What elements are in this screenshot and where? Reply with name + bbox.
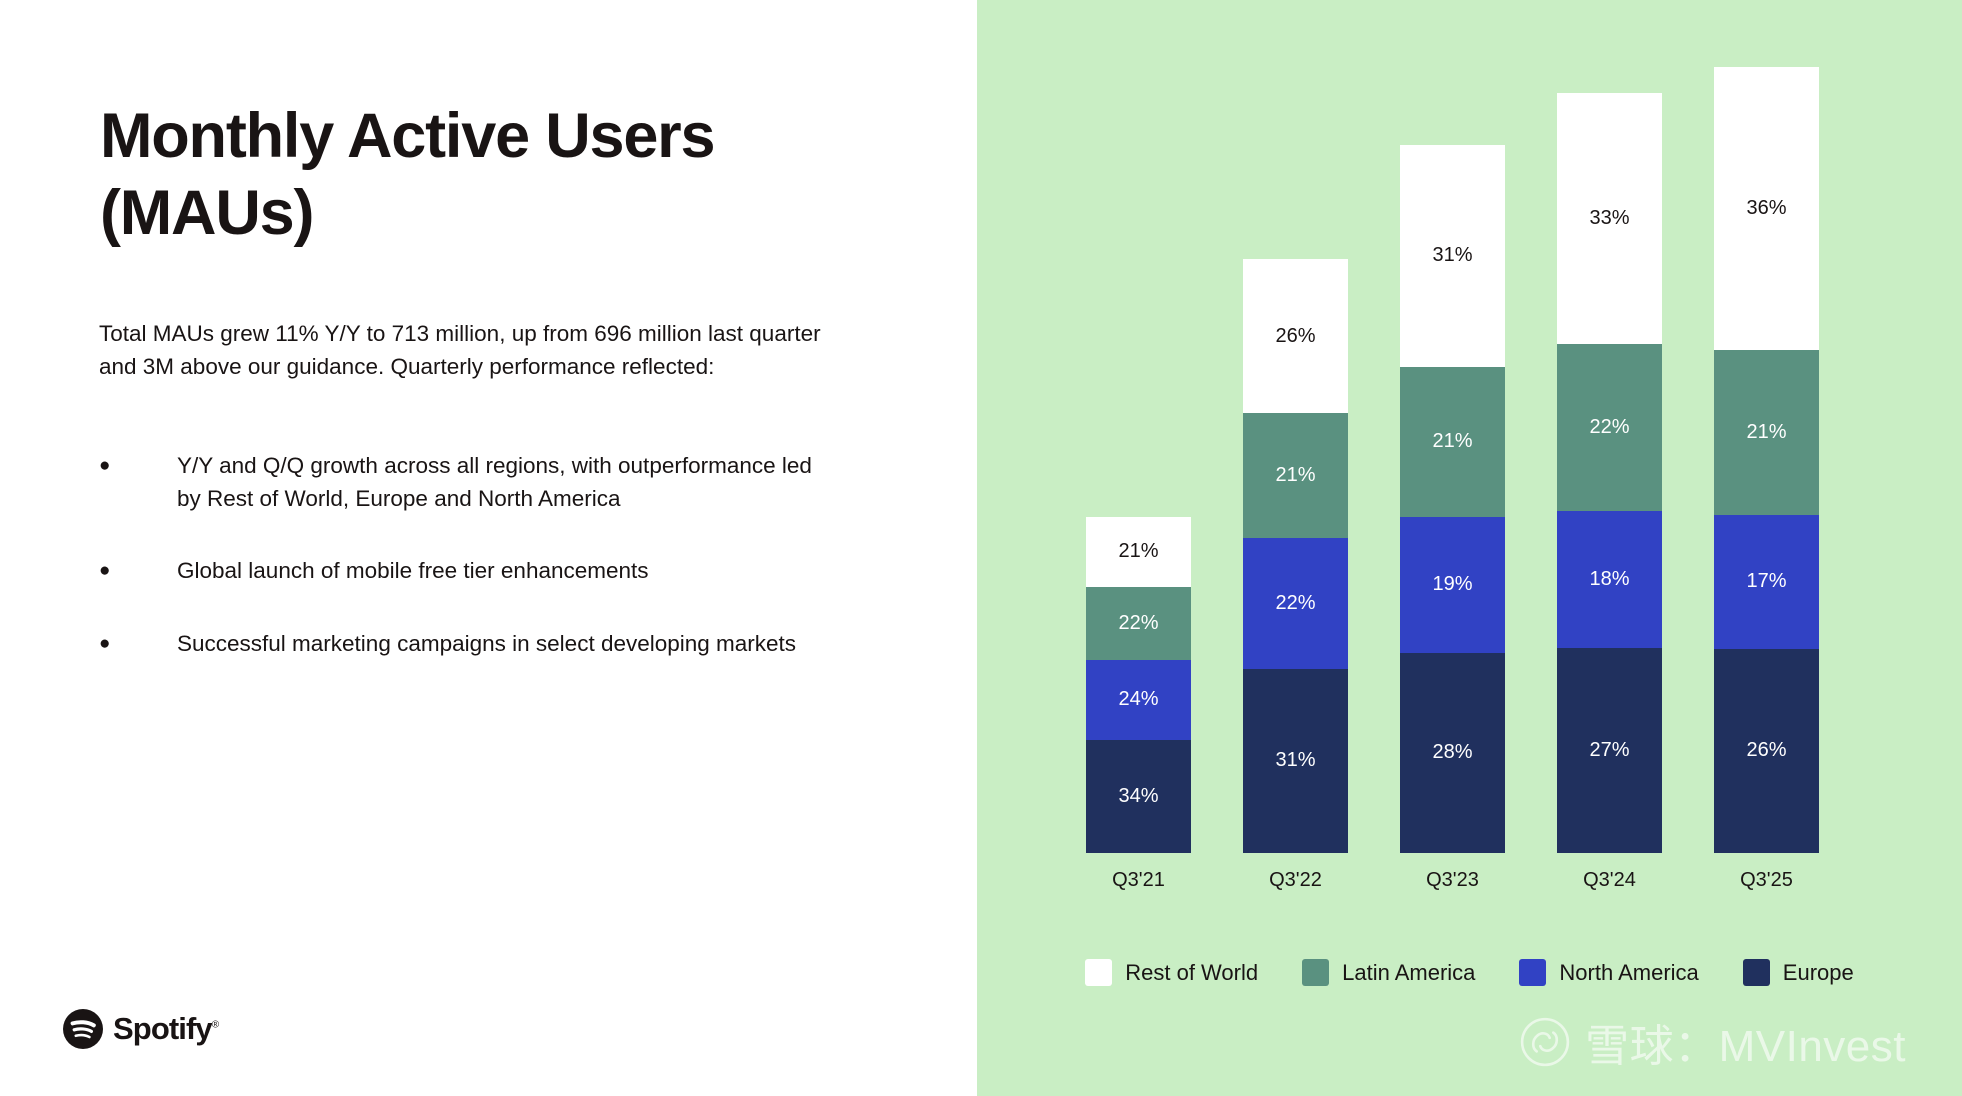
- legend-item-north-america[interactable]: North America: [1519, 959, 1698, 986]
- bar-segment-europe[interactable]: 28%: [1400, 653, 1505, 853]
- bar-segment-europe[interactable]: 34%: [1086, 740, 1191, 853]
- chart-legend: Rest of World Latin America North Americ…: [977, 959, 1962, 986]
- bar-segment-label: 34%: [1118, 785, 1158, 808]
- xueqiu-logo-icon: [1519, 1016, 1571, 1068]
- list-item-label: Global launch of mobile free tier enhanc…: [177, 555, 827, 588]
- bar-segment-label: 28%: [1432, 741, 1472, 764]
- bar-group-q324[interactable]: 33% 22% 18% 27%: [1557, 93, 1662, 853]
- bar-segment-rest-of-world[interactable]: 31%: [1400, 145, 1505, 367]
- bar-segment-label: 31%: [1275, 749, 1315, 772]
- bar-segment-label: 31%: [1432, 244, 1472, 267]
- bar-segment-latin-america[interactable]: 21%: [1714, 350, 1819, 515]
- bar-segment-label: 17%: [1746, 570, 1786, 593]
- bar-segment-label: 27%: [1589, 739, 1629, 762]
- legend-swatch-icon: [1743, 959, 1770, 986]
- bar-segment-label: 26%: [1275, 325, 1315, 348]
- x-axis-label-q322: Q3'22: [1243, 869, 1348, 892]
- list-item-label: Y/Y and Q/Q growth across all regions, w…: [177, 450, 827, 515]
- bar-segment-label: 22%: [1275, 592, 1315, 615]
- chart-panel: 21% 22% 24% 34% Q3'21 26% 21%: [977, 0, 1962, 1096]
- bar-segment-label: 33%: [1589, 207, 1629, 230]
- bar-segment-label: 19%: [1432, 573, 1472, 596]
- bullet-marker-icon: ●: [99, 450, 177, 515]
- bar-segment-label: 21%: [1432, 430, 1472, 453]
- slide-root: Monthly Active Users (MAUs) Total MAUs g…: [0, 0, 1962, 1096]
- bar-segment-europe[interactable]: 26%: [1714, 649, 1819, 853]
- page-title: Monthly Active Users (MAUs): [100, 98, 800, 253]
- bar-segment-europe[interactable]: 27%: [1557, 648, 1662, 853]
- bar-segment-label: 21%: [1118, 540, 1158, 563]
- legend-item-label: Europe: [1783, 960, 1854, 986]
- legend-item-label: Rest of World: [1125, 960, 1258, 986]
- list-item: ● Global launch of mobile free tier enha…: [99, 555, 859, 588]
- bar-segment-north-america[interactable]: 17%: [1714, 515, 1819, 649]
- bar-segment-north-america[interactable]: 22%: [1243, 538, 1348, 669]
- bar-segment-rest-of-world[interactable]: 21%: [1086, 517, 1191, 587]
- stacked-bar-chart: 21% 22% 24% 34% Q3'21 26% 21%: [977, 0, 1962, 1096]
- bar-segment-latin-america[interactable]: 21%: [1243, 413, 1348, 538]
- bar-segment-rest-of-world[interactable]: 26%: [1243, 259, 1348, 413]
- bar-segment-rest-of-world[interactable]: 33%: [1557, 93, 1662, 344]
- lead-paragraph: Total MAUs grew 11% Y/Y to 713 million, …: [99, 318, 839, 383]
- bar-segment-label: 21%: [1275, 464, 1315, 487]
- spotify-wordmark-text: Spotify: [113, 1011, 212, 1046]
- legend-item-latin-america[interactable]: Latin America: [1302, 959, 1475, 986]
- bar-segment-label: 22%: [1118, 612, 1158, 635]
- legend-item-label: North America: [1559, 960, 1698, 986]
- bar-group-q323[interactable]: 31% 21% 19% 28%: [1400, 145, 1505, 853]
- bar-segment-rest-of-world[interactable]: 36%: [1714, 67, 1819, 350]
- bar-segment-europe[interactable]: 31%: [1243, 669, 1348, 853]
- list-item-label: Successful marketing campaigns in select…: [177, 628, 827, 661]
- bar-segment-label: 26%: [1746, 739, 1786, 762]
- legend-swatch-icon: [1302, 959, 1329, 986]
- bar-segment-label: 22%: [1589, 416, 1629, 439]
- watermark-label: 雪球：MVInvest: [1585, 1010, 1906, 1074]
- bullet-marker-icon: ●: [99, 628, 177, 661]
- legend-item-rest-of-world[interactable]: Rest of World: [1085, 959, 1258, 986]
- bar-group-q322[interactable]: 26% 21% 22% 31%: [1243, 259, 1348, 853]
- bar-segment-latin-america[interactable]: 21%: [1400, 367, 1505, 517]
- legend-item-label: Latin America: [1342, 960, 1475, 986]
- bar-segment-north-america[interactable]: 24%: [1086, 660, 1191, 740]
- bar-segment-label: 18%: [1589, 568, 1629, 591]
- bar-segment-latin-america[interactable]: 22%: [1086, 587, 1191, 660]
- bullet-marker-icon: ●: [99, 555, 177, 588]
- bar-segment-latin-america[interactable]: 22%: [1557, 344, 1662, 511]
- list-item: ● Successful marketing campaigns in sele…: [99, 628, 859, 661]
- bar-segment-label: 21%: [1746, 421, 1786, 444]
- x-axis-label-q325: Q3'25: [1714, 869, 1819, 892]
- x-axis-label-q323: Q3'23: [1400, 869, 1505, 892]
- spotify-logo: Spotify®: [63, 1009, 218, 1049]
- legend-item-europe[interactable]: Europe: [1743, 959, 1854, 986]
- bullet-list: ● Y/Y and Q/Q growth across all regions,…: [99, 450, 859, 701]
- watermark: 雪球：MVInvest: [1519, 1010, 1906, 1074]
- left-content-panel: Monthly Active Users (MAUs) Total MAUs g…: [0, 0, 977, 1096]
- spotify-mark-icon: [63, 1009, 103, 1049]
- spotify-wordmark: Spotify®: [113, 1011, 218, 1047]
- trademark-symbol: ®: [212, 1020, 218, 1031]
- bar-segment-north-america[interactable]: 18%: [1557, 511, 1662, 648]
- bar-segment-label: 36%: [1746, 197, 1786, 220]
- bar-segment-north-america[interactable]: 19%: [1400, 517, 1505, 653]
- bar-segment-label: 24%: [1118, 688, 1158, 711]
- list-item: ● Y/Y and Q/Q growth across all regions,…: [99, 450, 859, 515]
- bar-group-q325[interactable]: 36% 21% 17% 26%: [1714, 67, 1819, 853]
- x-axis-label-q324: Q3'24: [1557, 869, 1662, 892]
- legend-swatch-icon: [1085, 959, 1112, 986]
- legend-swatch-icon: [1519, 959, 1546, 986]
- bar-group-q321[interactable]: 21% 22% 24% 34%: [1086, 517, 1191, 853]
- x-axis-label-q321: Q3'21: [1086, 869, 1191, 892]
